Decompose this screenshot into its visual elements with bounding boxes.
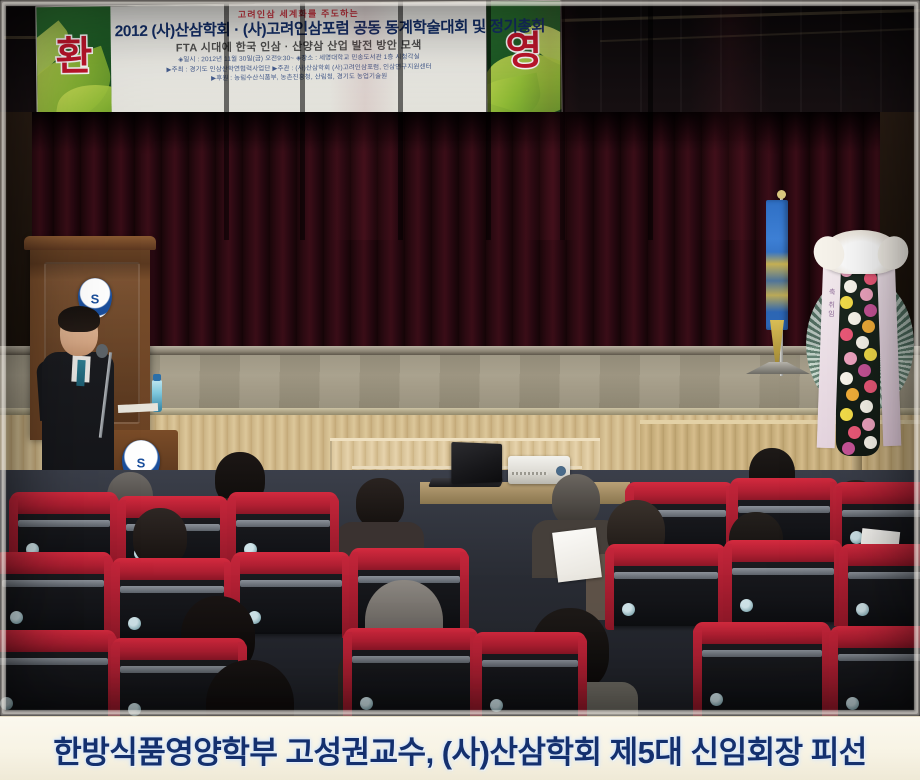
photo-page: 환 영 고려인삼 세계화를 주도하는 2012 (사)산삼학회 · (사)고려인… <box>0 0 920 780</box>
caption-text: 한방식품영양학부 고성권교수, (사)산삼학회 제5대 신임회장 피선 <box>53 727 867 772</box>
seat <box>700 630 824 716</box>
laptop <box>451 442 502 484</box>
banner-body: 고려인삼 세계화를 주도하는 2012 (사)산삼학회 · (사)고려인삼포럼 … <box>110 2 487 119</box>
seat <box>836 634 920 716</box>
wreath-ribbon-text: 축 취임 <box>825 288 836 319</box>
wreath-bow <box>822 230 900 274</box>
event-banner: 환 영 고려인삼 세계화를 주도하는 2012 (사)산삼학회 · (사)고려인… <box>35 0 562 120</box>
seat <box>612 552 720 626</box>
wreath-flowers <box>836 256 880 456</box>
seat <box>730 548 836 622</box>
congratulatory-flower-wreath: 축 취임 <box>800 222 920 472</box>
held-paper <box>552 528 602 583</box>
conference-photo: 환 영 고려인삼 세계화를 주도하는 2012 (사)산삼학회 · (사)고려인… <box>0 0 920 716</box>
podium-top <box>24 236 156 250</box>
seat <box>846 552 920 626</box>
speaker-tie <box>76 360 85 386</box>
seat <box>0 638 110 716</box>
banner-left-endcap: 환 <box>36 6 111 119</box>
projector-lens-icon <box>556 466 566 476</box>
seat <box>350 636 472 716</box>
wreath-ribbon-right <box>877 256 902 447</box>
caption-bar: 한방식품영양학부 고성권교수, (사)산삼학회 제5대 신임회장 피선 <box>0 716 920 780</box>
banner-left-char: 환 <box>55 24 93 82</box>
microphone-icon <box>96 344 108 358</box>
seat <box>0 560 106 634</box>
seat <box>238 560 344 634</box>
seat <box>480 640 580 716</box>
